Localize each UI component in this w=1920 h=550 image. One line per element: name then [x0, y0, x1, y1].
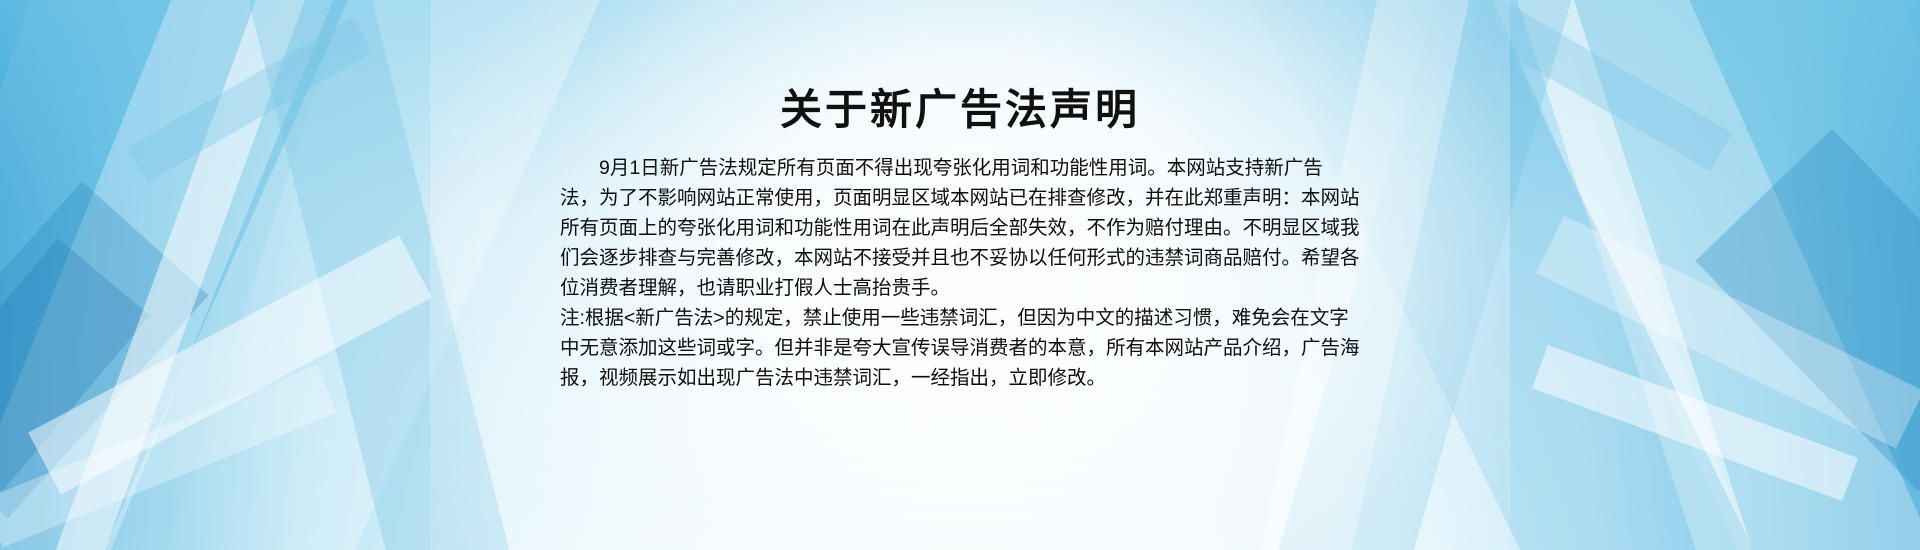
advertising-law-statement-banner: 关于新广告法声明 9月1日新广告法规定所有页面不得出现夸张化用词和功能性用词。本… — [0, 0, 1920, 550]
statement-paragraph-1: 9月1日新广告法规定所有页面不得出现夸张化用词和功能性用词。本网站支持新广告法，… — [560, 153, 1360, 303]
statement-content: 关于新广告法声明 9月1日新广告法规定所有页面不得出现夸张化用词和功能性用词。本… — [0, 0, 1920, 393]
statement-paragraph-2: 注:根据<新广告法>的规定，禁止使用一些违禁词汇，但因为中文的描述习惯，难免会在… — [560, 303, 1360, 393]
statement-body: 9月1日新广告法规定所有页面不得出现夸张化用词和功能性用词。本网站支持新广告法，… — [560, 134, 1360, 393]
page-title: 关于新广告法声明 — [0, 0, 1920, 134]
